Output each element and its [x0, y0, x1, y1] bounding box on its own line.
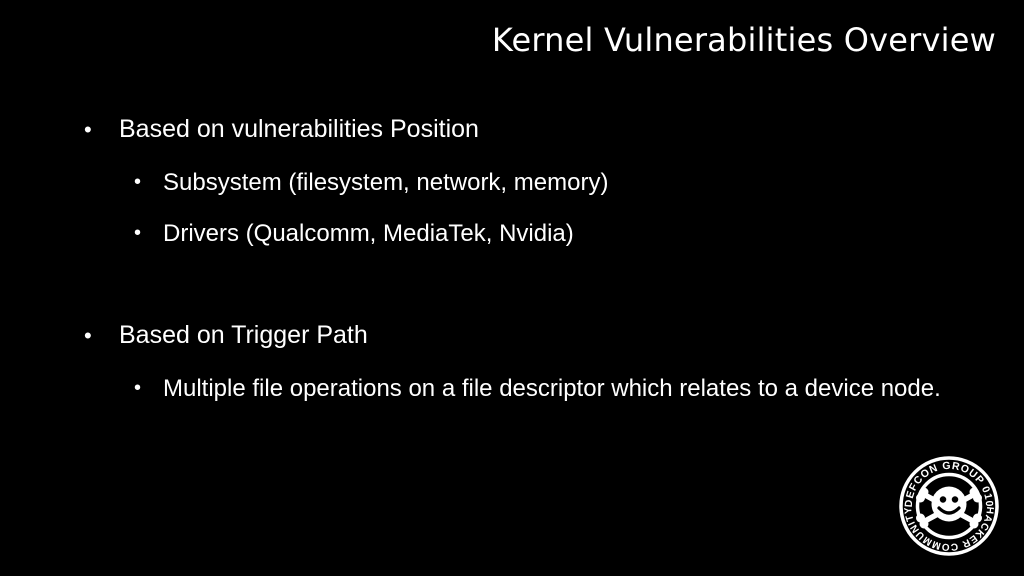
list-item: • Based on vulnerabilities Position	[0, 104, 1024, 155]
slide-canvas: Kernel Vulnerabilities Overview • Based …	[0, 0, 1024, 576]
bullet-marker-icon: •	[84, 104, 119, 155]
smiley-skull-icon	[932, 487, 967, 522]
list-item: • Based on Trigger Path	[0, 310, 1024, 361]
page-title: Kernel Vulnerabilities Overview	[492, 22, 996, 59]
list-item-label: Based on Trigger Path	[119, 310, 939, 361]
bullet-marker-icon: •	[84, 310, 119, 361]
defcon-group-010-logo-icon: DEFCON GROUP 010 HACKER COMMUNITY	[899, 455, 999, 557]
list-item: • Drivers (Qualcomm, MediaTek, Nvidia)	[0, 208, 1024, 259]
bullet-list: • Based on vulnerabilities Position • Su…	[0, 104, 1024, 414]
list-spacer	[0, 259, 1024, 310]
bullet-marker-icon: •	[134, 363, 163, 414]
list-item: • Multiple file operations on a file des…	[0, 363, 1024, 414]
list-item-label: Based on vulnerabilities Position	[119, 104, 939, 155]
list-item: • Subsystem (filesystem, network, memory…	[0, 157, 1024, 208]
bullet-marker-icon: •	[134, 157, 163, 208]
list-item-label: Drivers (Qualcomm, MediaTek, Nvidia)	[163, 208, 953, 259]
list-item-label: Multiple file operations on a file descr…	[163, 363, 953, 414]
list-item-label: Subsystem (filesystem, network, memory)	[163, 157, 953, 208]
bullet-marker-icon: •	[134, 208, 163, 259]
